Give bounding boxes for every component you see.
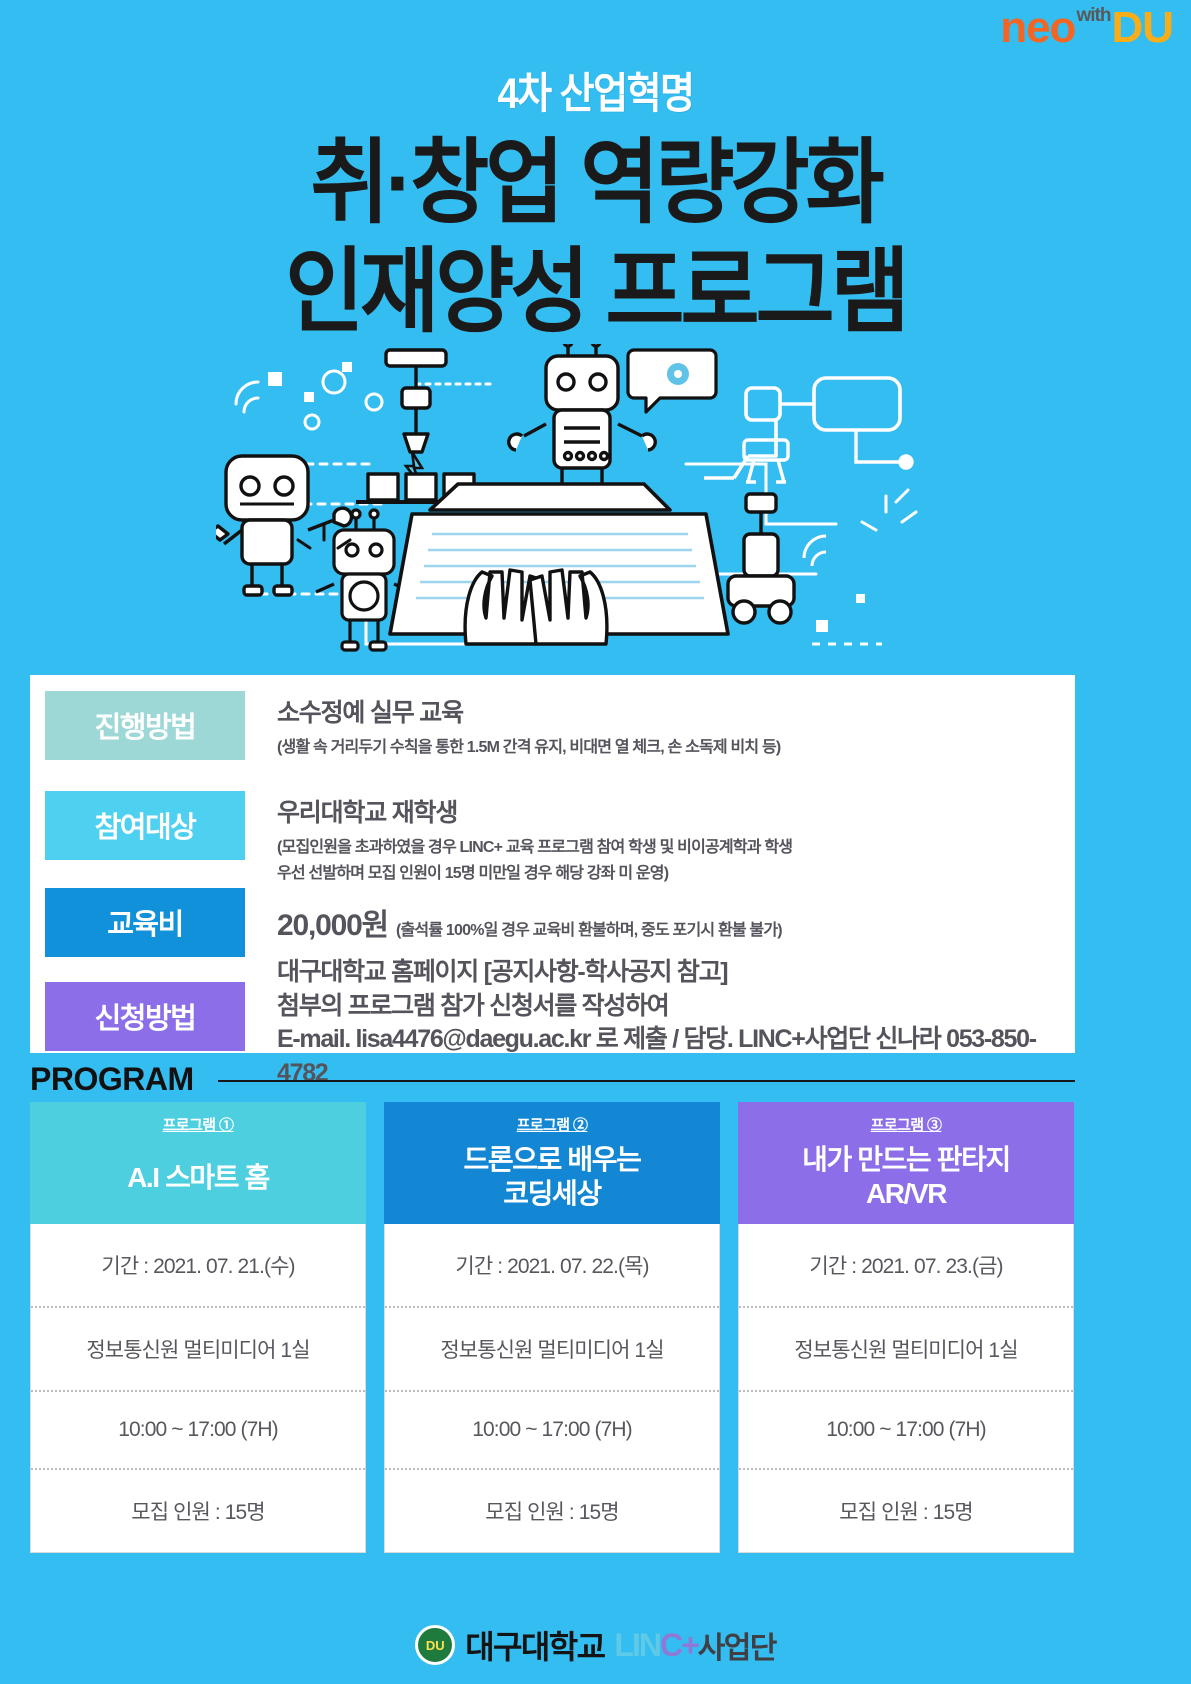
program-card-2-time: 10:00 ~ 17:00 (7H): [385, 1392, 719, 1470]
program-card-3[interactable]: 프로그램 ③ 내가 만드는 판타지 AR/VR 기간 : 2021. 07. 2…: [738, 1102, 1074, 1553]
info-method-note: (생활 속 거리두기 수칙을 통한 1.5M 간격 유지, 비대면 열 체크, …: [277, 736, 1063, 759]
program-card-2-capacity: 모집 인원 : 15명: [385, 1470, 719, 1552]
program-card-3-body: 기간 : 2021. 07. 23.(금) 정보통신원 멀티미디어 1실 10:…: [738, 1224, 1074, 1553]
industry-40-illustration-svg: [216, 344, 976, 664]
info-tag-target: 참여대상: [45, 791, 245, 860]
program-card-2-head: 프로그램 ② 드론으로 배우는 코딩세상: [384, 1102, 720, 1224]
info-panel: 진행방법 소수정예 실무 교육 (생활 속 거리두기 수칙을 통한 1.5M 간…: [30, 675, 1075, 1053]
program-card-3-place: 정보통신원 멀티미디어 1실: [739, 1308, 1073, 1392]
program-card-2-period: 기간 : 2021. 07. 22.(목): [385, 1224, 719, 1308]
program-card-1-place: 정보통신원 멀티미디어 1실: [31, 1308, 365, 1392]
program-card-1-index: 프로그램 ①: [30, 1114, 366, 1135]
program-card-3-name-line2: AR/VR: [738, 1177, 1074, 1211]
info-target-note-1: (모집인원을 초과하였을 경우 LINC+ 교육 프로그램 참여 학생 및 비이…: [277, 836, 1063, 859]
footer: DU 대구대학교 LIN C+ 사업단: [0, 1622, 1191, 1668]
info-target-note-2: 우선 선발하며 모집 인원이 15명 미만일 경우 해당 강좌 미 운영): [277, 862, 1063, 885]
poster-kicker: 4차 산업혁명: [0, 59, 1191, 121]
program-card-3-capacity: 모집 인원 : 15명: [739, 1470, 1073, 1552]
university-emblem-text: DU: [426, 1638, 445, 1653]
program-card-2-index: 프로그램 ②: [384, 1114, 720, 1135]
info-apply-line-2: 첨부의 프로그램 참가 신청서를 작성하여: [277, 990, 1063, 1024]
program-card-2[interactable]: 프로그램 ② 드론으로 배우는 코딩세상 기간 : 2021. 07. 22.(…: [384, 1102, 720, 1553]
program-card-2-name-line1: 드론으로 배우는: [384, 1143, 720, 1177]
program-card-2-place: 정보통신원 멀티미디어 1실: [385, 1308, 719, 1392]
brand-logo: neo with DU: [1000, 6, 1173, 50]
program-section-title: PROGRAM: [30, 1061, 194, 1098]
program-card-1[interactable]: 프로그램 ① A.I 스마트 홈 기간 : 2021. 07. 21.(수) 정…: [30, 1102, 366, 1553]
program-card-1-name: A.I 스마트 홈: [30, 1161, 366, 1195]
university-name: 대구대학교: [465, 1622, 604, 1668]
program-card-1-body: 기간 : 2021. 07. 21.(수) 정보통신원 멀티미디어 1실 10:…: [30, 1224, 366, 1553]
program-card-1-period: 기간 : 2021. 07. 21.(수): [31, 1224, 365, 1308]
program-card-3-name-line1: 내가 만드는 판타지: [738, 1143, 1074, 1177]
info-tag-apply: 신청방법: [45, 982, 245, 1051]
linc-logo-part3: 사업단: [698, 1623, 776, 1667]
program-divider: [218, 1080, 1075, 1082]
poster-headline-line2: 인재양성 프로그램: [0, 245, 1191, 342]
info-tag-fee: 교육비: [45, 888, 245, 957]
info-body-fee: 20,000원 (출석률 100%일 경우 교육비 환불하며, 중도 포기시 환…: [277, 900, 1063, 944]
brand-logo-neo: neo: [1000, 6, 1075, 50]
linc-logo: LIN C+ 사업단: [614, 1623, 775, 1667]
linc-logo-part2: C+: [660, 1627, 698, 1664]
hero-illustration: [0, 344, 1191, 664]
program-card-2-body: 기간 : 2021. 07. 22.(목) 정보통신원 멀티미디어 1실 10:…: [384, 1224, 720, 1553]
program-card-1-head: 프로그램 ① A.I 스마트 홈: [30, 1102, 366, 1224]
program-card-3-period: 기간 : 2021. 07. 23.(금): [739, 1224, 1073, 1308]
program-card-list: 프로그램 ① A.I 스마트 홈 기간 : 2021. 07. 21.(수) 정…: [30, 1102, 1075, 1553]
program-card-3-head: 프로그램 ③ 내가 만드는 판타지 AR/VR: [738, 1102, 1074, 1224]
brand-logo-du: DU: [1111, 6, 1173, 50]
program-card-2-name-line2: 코딩세상: [384, 1177, 720, 1211]
info-method-main: 소수정예 실무 교육: [277, 693, 1063, 729]
program-card-1-capacity: 모집 인원 : 15명: [31, 1470, 365, 1552]
linc-logo-part1: LIN: [614, 1627, 660, 1664]
program-card-3-index: 프로그램 ③: [738, 1114, 1074, 1135]
program-card-3-time: 10:00 ~ 17:00 (7H): [739, 1392, 1073, 1470]
info-body-method: 소수정예 실무 교육 (생활 속 거리두기 수칙을 통한 1.5M 간격 유지,…: [277, 693, 1063, 759]
poster-headline-line1: 취·창업 역량강화: [0, 135, 1191, 232]
university-emblem-icon: DU: [415, 1625, 455, 1665]
info-body-target: 우리대학교 재학생 (모집인원을 초과하였을 경우 LINC+ 교육 프로그램 …: [277, 793, 1063, 885]
info-fee-note: (출석률 100%일 경우 교육비 환불하며, 중도 포기시 환불 불가): [396, 916, 782, 940]
info-tag-method: 진행방법: [45, 691, 245, 760]
info-fee-amount: 20,000원: [277, 900, 388, 944]
program-card-1-time: 10:00 ~ 17:00 (7H): [31, 1392, 365, 1470]
brand-logo-with: with: [1076, 6, 1110, 25]
program-section-header: PROGRAM: [30, 1058, 1075, 1100]
info-target-main: 우리대학교 재학생: [277, 793, 1063, 829]
info-apply-line-1: 대구대학교 홈페이지 [공지사항-학사공지 참고]: [277, 956, 1063, 990]
